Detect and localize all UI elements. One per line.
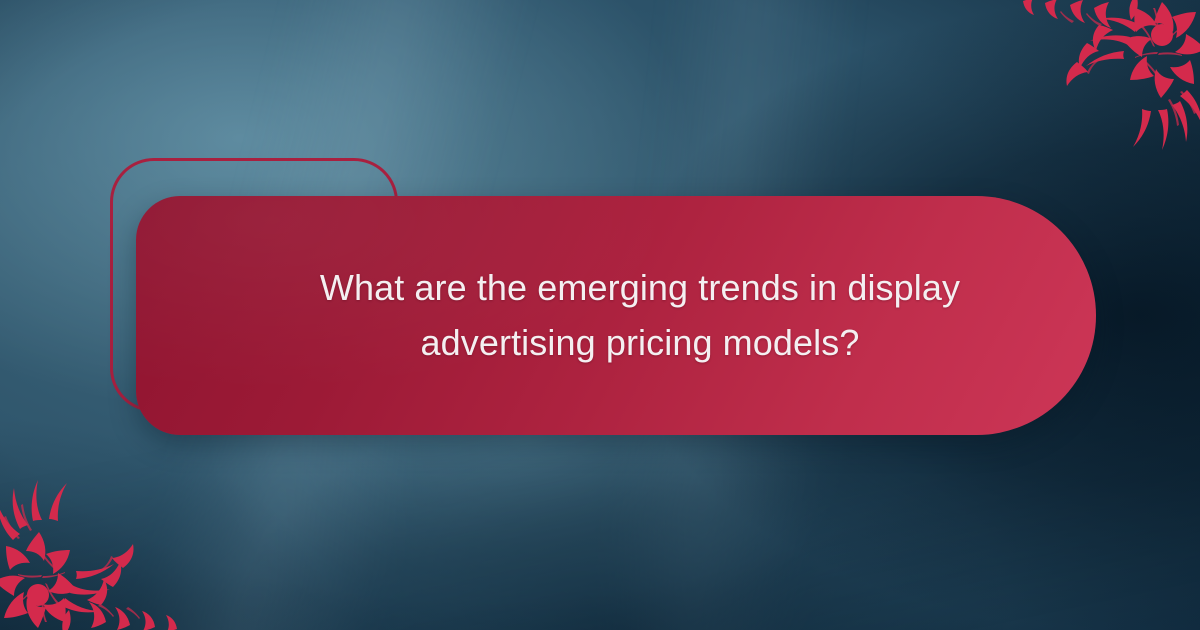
question-headline: What are the emerging trends in display … [158, 261, 1074, 370]
social-card-canvas: What are the emerging trends in display … [0, 0, 1200, 630]
question-card: What are the emerging trends in display … [136, 196, 1096, 435]
